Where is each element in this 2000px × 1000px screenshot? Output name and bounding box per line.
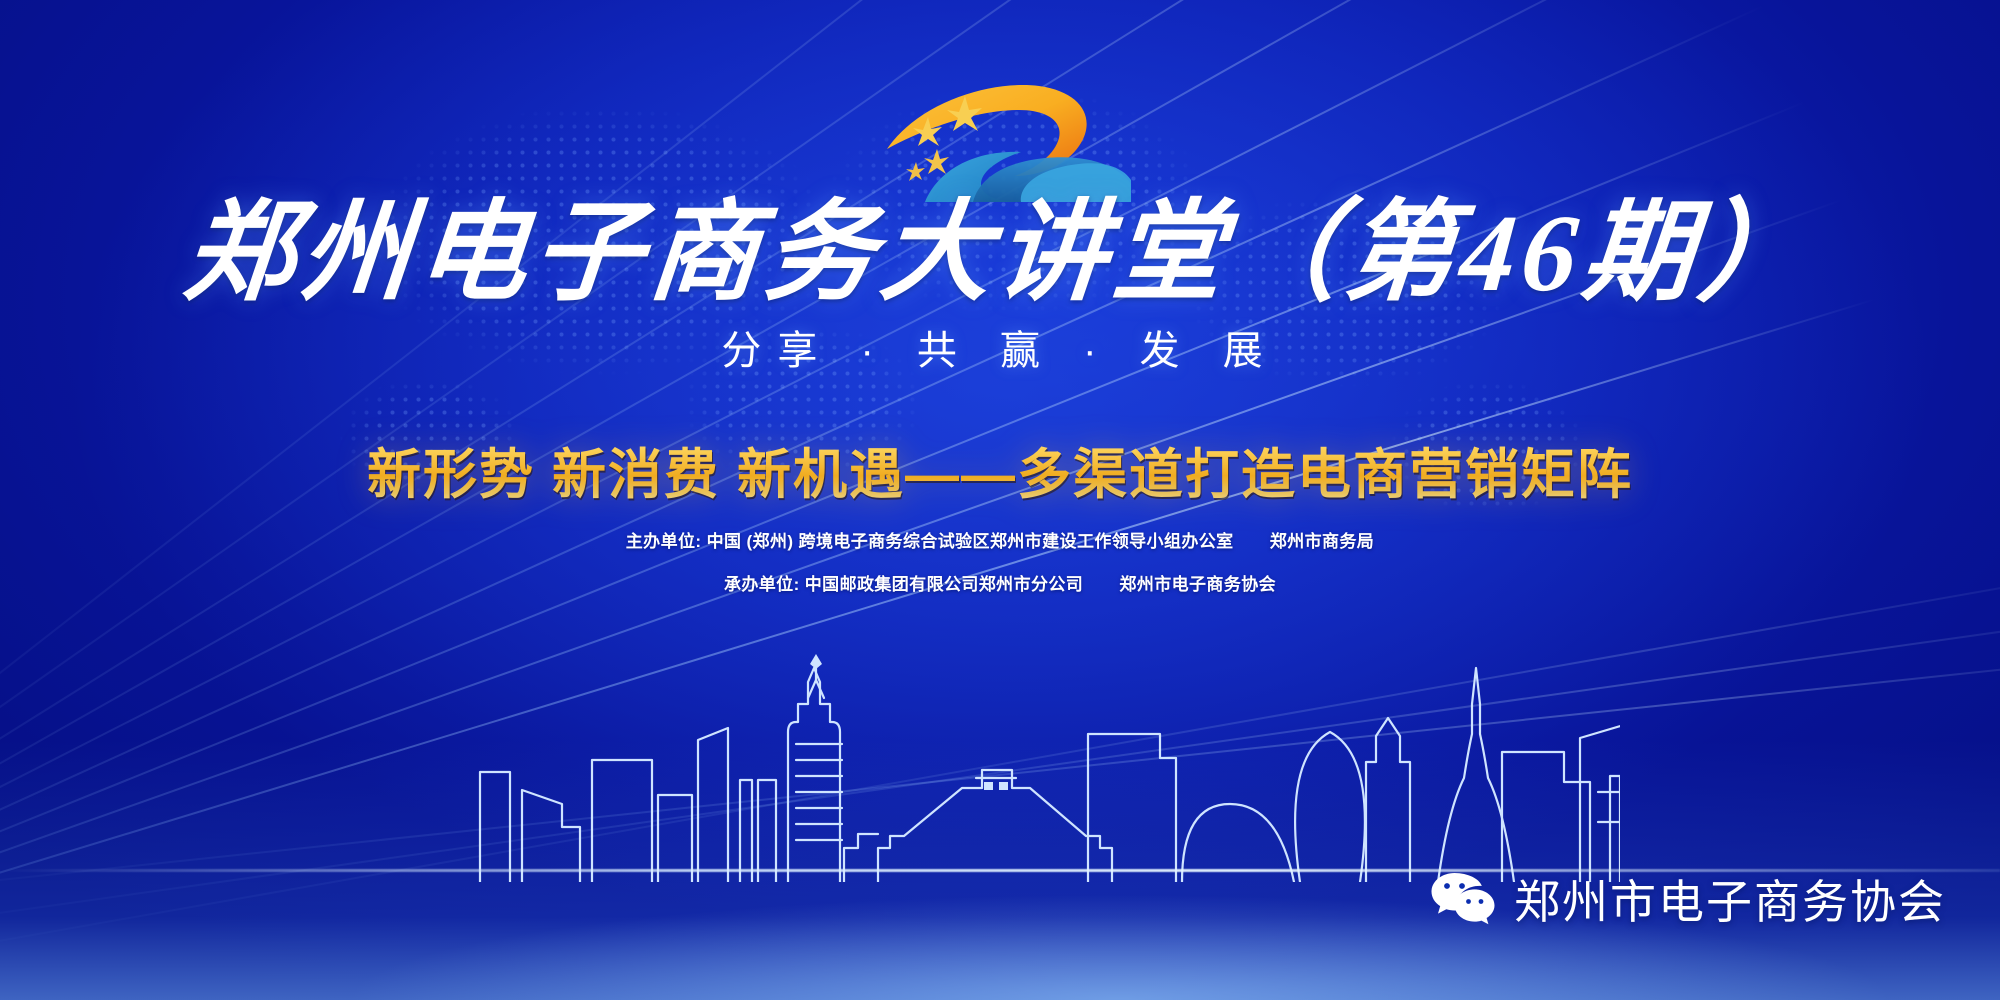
host-label: 主办单位: xyxy=(626,532,702,551)
host-org-primary: 中国 (郑州) 跨境电子商务综合试验区郑州市建设工作领导小组办公室 xyxy=(707,532,1234,551)
wechat-account-name: 郑州市电子商务协会 xyxy=(1514,866,1946,932)
zhengzhou-ecommerce-logo xyxy=(873,72,1131,202)
wechat-icon xyxy=(1430,871,1496,927)
organizer-org-primary: 中国邮政集团有限公司郑州市分公司 xyxy=(805,575,1083,594)
session-topic-headline: 新形势 新消费 新机遇——多渠道打造电商营销矩阵 xyxy=(0,430,2000,509)
page-title: 郑州电子商务大讲堂（第46期） xyxy=(0,198,2000,308)
host-credit-line: 主办单位: 中国 (郑州) 跨境电子商务综合试验区郑州市建设工作领导小组办公室 … xyxy=(0,533,2000,550)
wechat-account-badge[interactable]: 郑州市电子商务协会 xyxy=(1430,866,1946,932)
credits-block: 主办单位: 中国 (郑州) 跨境电子商务综合试验区郑州市建设工作领导小组办公室 … xyxy=(0,533,2000,593)
event-poster: 郑州电子商务大讲堂（第46期） 分享 · 共 赢 · 发 展 新形势 新消费 新… xyxy=(0,0,2000,1000)
zhengzhou-city-skyline xyxy=(440,652,1620,882)
organizer-label: 承办单位: xyxy=(724,575,800,594)
organizer-credit-line: 承办单位: 中国邮政集团有限公司郑州市分公司 郑州市电子商务协会 xyxy=(0,576,2000,593)
organizer-org-secondary: 郑州市电子商务协会 xyxy=(1119,575,1276,594)
page-subtitle: 分享 · 共 赢 · 发 展 xyxy=(0,318,2000,376)
host-org-secondary: 郑州市商务局 xyxy=(1270,532,1374,551)
